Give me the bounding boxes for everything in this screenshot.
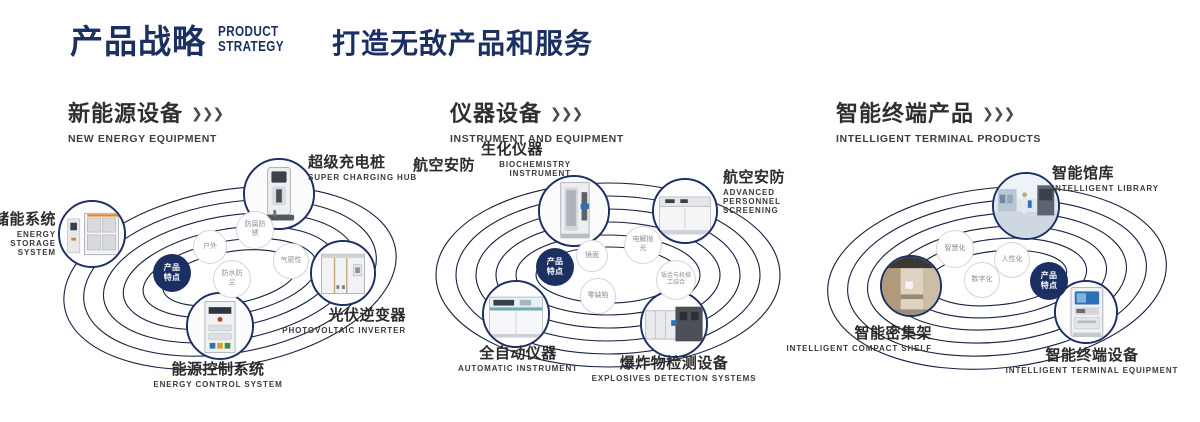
chevron-right-icon: ❯❯❯: [982, 105, 1014, 122]
core-bubble-line2: 特点: [164, 273, 181, 283]
section-heading-instrument: 仪器设备❯❯❯ INSTRUMENT AND EQUIPMENT: [450, 96, 624, 145]
caption-en: INTELLIGENT TERMINAL EQUIPMENT: [992, 367, 1192, 376]
node-energy-control-system[interactable]: [186, 292, 254, 360]
node-photovoltaic-inverter[interactable]: [310, 240, 376, 306]
feature-bubble-humanized: 人性化: [994, 242, 1030, 278]
caption-biochemistry-instrument: 生化仪器 BIOCHEMISTRY INSTRUMENT: [481, 142, 571, 179]
core-bubble-line2: 特点: [1041, 281, 1058, 291]
feature-bubble-outdoor: 户外: [193, 230, 227, 264]
feature-bubble-anticorrosion: 防腐防锈: [236, 211, 274, 249]
page-title-english-line1: PRODUCT: [218, 24, 284, 39]
cluster-instrument: 生化仪器 BIOCHEMISTRY INSTRUMENT 航空安防 航空安防 A…: [418, 150, 798, 405]
caption-energy-control-system: 能源控制系统 ENERGY CONTROL SYSTEM: [88, 362, 348, 390]
caption-cn: 智能馆库: [1052, 166, 1159, 183]
node-automatic-instrument[interactable]: [482, 280, 550, 348]
section-title-en: NEW ENERGY EQUIPMENT: [68, 133, 223, 145]
feature-bubble-intelligent: 智慧化: [936, 230, 974, 268]
feature-bubble-waterproof-label: 防水防尘: [221, 270, 243, 288]
battery-cabinet-photo: [60, 202, 124, 266]
feature-bubble-sheetmetal-machining-label: 钣金与机械工结合: [661, 273, 691, 288]
cluster-new-energy: 储能系统 ENERGY STORAGE SYSTEM 超级充电桩 SUPER C…: [40, 150, 420, 405]
node-energy-storage-system[interactable]: [58, 200, 126, 268]
node-explosives-detection[interactable]: [640, 290, 708, 358]
node-advanced-personnel-screening[interactable]: [652, 178, 718, 244]
library-interior-photo: [994, 174, 1058, 238]
core-bubble-product-features: 产品 特点: [536, 248, 574, 286]
section-title-cn: 仪器设备: [450, 96, 542, 128]
caption-automatic-instrument: 全自动仪器 AUTOMATIC INSTRUMENT: [418, 346, 618, 374]
caption-en: ADVANCED PERSONNEL SCREENING: [723, 189, 811, 216]
section-heading-intelligent-terminal: 智能终端产品❯❯❯ INTELLIGENT TERMINAL PRODUCTS: [836, 96, 1041, 145]
page-title: 产品战略: [70, 25, 206, 58]
cluster-intelligent-terminal: 智能馆库 INTELLIGENT LIBRARY 智能密集架 INTELLIGE…: [812, 150, 1192, 405]
caption-intelligent-terminal-equipment: 智能终端设备 INTELLIGENT TERMINAL EQUIPMENT: [992, 348, 1192, 376]
caption-advanced-personnel-screening: 航空安防 ADVANCED PERSONNEL SCREENING: [723, 170, 811, 216]
caption-en: ENERGY STORAGE SYSTEM: [0, 231, 56, 258]
caption-en: AUTOMATIC INSTRUMENT: [418, 365, 618, 374]
caption-cn: 储能系统: [0, 212, 56, 229]
caption-cn: 航空安防: [723, 170, 811, 187]
core-bubble-line1: 产品: [164, 263, 181, 273]
feature-bubble-sheetmetal-machining: 钣金与机械工结合: [656, 260, 696, 300]
poster-canvas: 产品战略 PRODUCT STRATEGY 打造无敌产品和服务 新能源设备❯❯❯…: [0, 0, 1200, 422]
node-biochemistry-instrument[interactable]: [538, 175, 610, 247]
screening-machine-photo: [654, 180, 716, 242]
explosives-detector-photo: [642, 292, 706, 356]
page-title-english-line2: STRATEGY: [218, 39, 284, 54]
caption-en: ENERGY CONTROL SYSTEM: [88, 381, 348, 390]
caption-intelligent-library: 智能馆库 INTELLIGENT LIBRARY: [1052, 166, 1159, 194]
core-bubble-product-features: 产品 特点: [1030, 262, 1068, 300]
caption-cn: 能源控制系统: [88, 362, 348, 379]
core-bubble-line2: 特点: [547, 267, 564, 277]
section-title-cn: 新能源设备: [68, 96, 183, 128]
node-intelligent-compact-shelf[interactable]: [880, 255, 942, 317]
page-subtitle: 打造无敌产品和服务: [332, 30, 593, 58]
feature-bubble-electropolishing-label: 电解抛光: [632, 236, 654, 254]
caption-cn: 生化仪器: [481, 142, 571, 159]
caption-en: INTELLIGENT LIBRARY: [1052, 185, 1159, 194]
control-cabinet-photo: [188, 294, 252, 358]
feature-bubble-waterproof: 防水防尘: [213, 260, 251, 298]
caption-aviation-security-side: 航空安防: [400, 158, 475, 175]
caption-cn: 智能密集架: [772, 326, 932, 343]
section-title-cn: 智能终端产品: [836, 96, 974, 128]
caption-en: SUPER CHARGING HUB: [308, 174, 417, 183]
caption-en: PHOTOVOLTAIC INVERTER: [276, 327, 406, 336]
biochemistry-scanner-photo: [540, 177, 608, 245]
node-intelligent-library[interactable]: [992, 172, 1060, 240]
section-heading-new-energy: 新能源设备❯❯❯ NEW ENERGY EQUIPMENT: [68, 96, 223, 145]
chevron-right-icon: ❯❯❯: [550, 105, 582, 122]
caption-cn: 航空安防: [400, 158, 475, 175]
caption-en: INTELLIGENT COMPACT SHELF: [772, 345, 932, 354]
caption-cn: 光伏逆变器: [276, 308, 406, 325]
automatic-analyzer-photo: [484, 282, 548, 346]
page-title-english: PRODUCT STRATEGY: [218, 24, 284, 58]
caption-energy-storage-system: 储能系统 ENERGY STORAGE SYSTEM: [0, 212, 56, 258]
feature-bubble-zero-defect: 零缺陷: [580, 278, 616, 314]
core-bubble-product-features: 产品 特点: [153, 254, 191, 292]
poster-header: 产品战略 PRODUCT STRATEGY: [70, 24, 303, 58]
core-bubble-line1: 产品: [547, 257, 564, 267]
caption-en: EXPLOSIVES DETECTION SYSTEMS: [564, 375, 784, 384]
feature-bubble-airtightness: 气密性: [273, 243, 309, 279]
caption-cn: 智能终端设备: [992, 348, 1192, 365]
chevron-right-icon: ❯❯❯: [191, 105, 223, 122]
compact-shelf-photo: [882, 257, 940, 315]
feature-bubble-mirror-finish: 镜面: [576, 240, 608, 272]
caption-intelligent-compact-shelf: 智能密集架 INTELLIGENT COMPACT SHELF: [772, 326, 932, 354]
caption-cn: 全自动仪器: [418, 346, 618, 363]
feature-bubble-anticorrosion-label: 防腐防锈: [244, 221, 266, 239]
caption-photovoltaic-inverter: 光伏逆变器 PHOTOVOLTAIC INVERTER: [276, 308, 406, 336]
feature-bubble-electropolishing: 电解抛光: [624, 226, 662, 264]
inverter-cabinet-photo: [312, 242, 374, 304]
section-title-en: INTELLIGENT TERMINAL PRODUCTS: [836, 133, 1041, 145]
core-bubble-line1: 产品: [1041, 271, 1058, 281]
caption-en: BIOCHEMISTRY INSTRUMENT: [481, 161, 571, 179]
